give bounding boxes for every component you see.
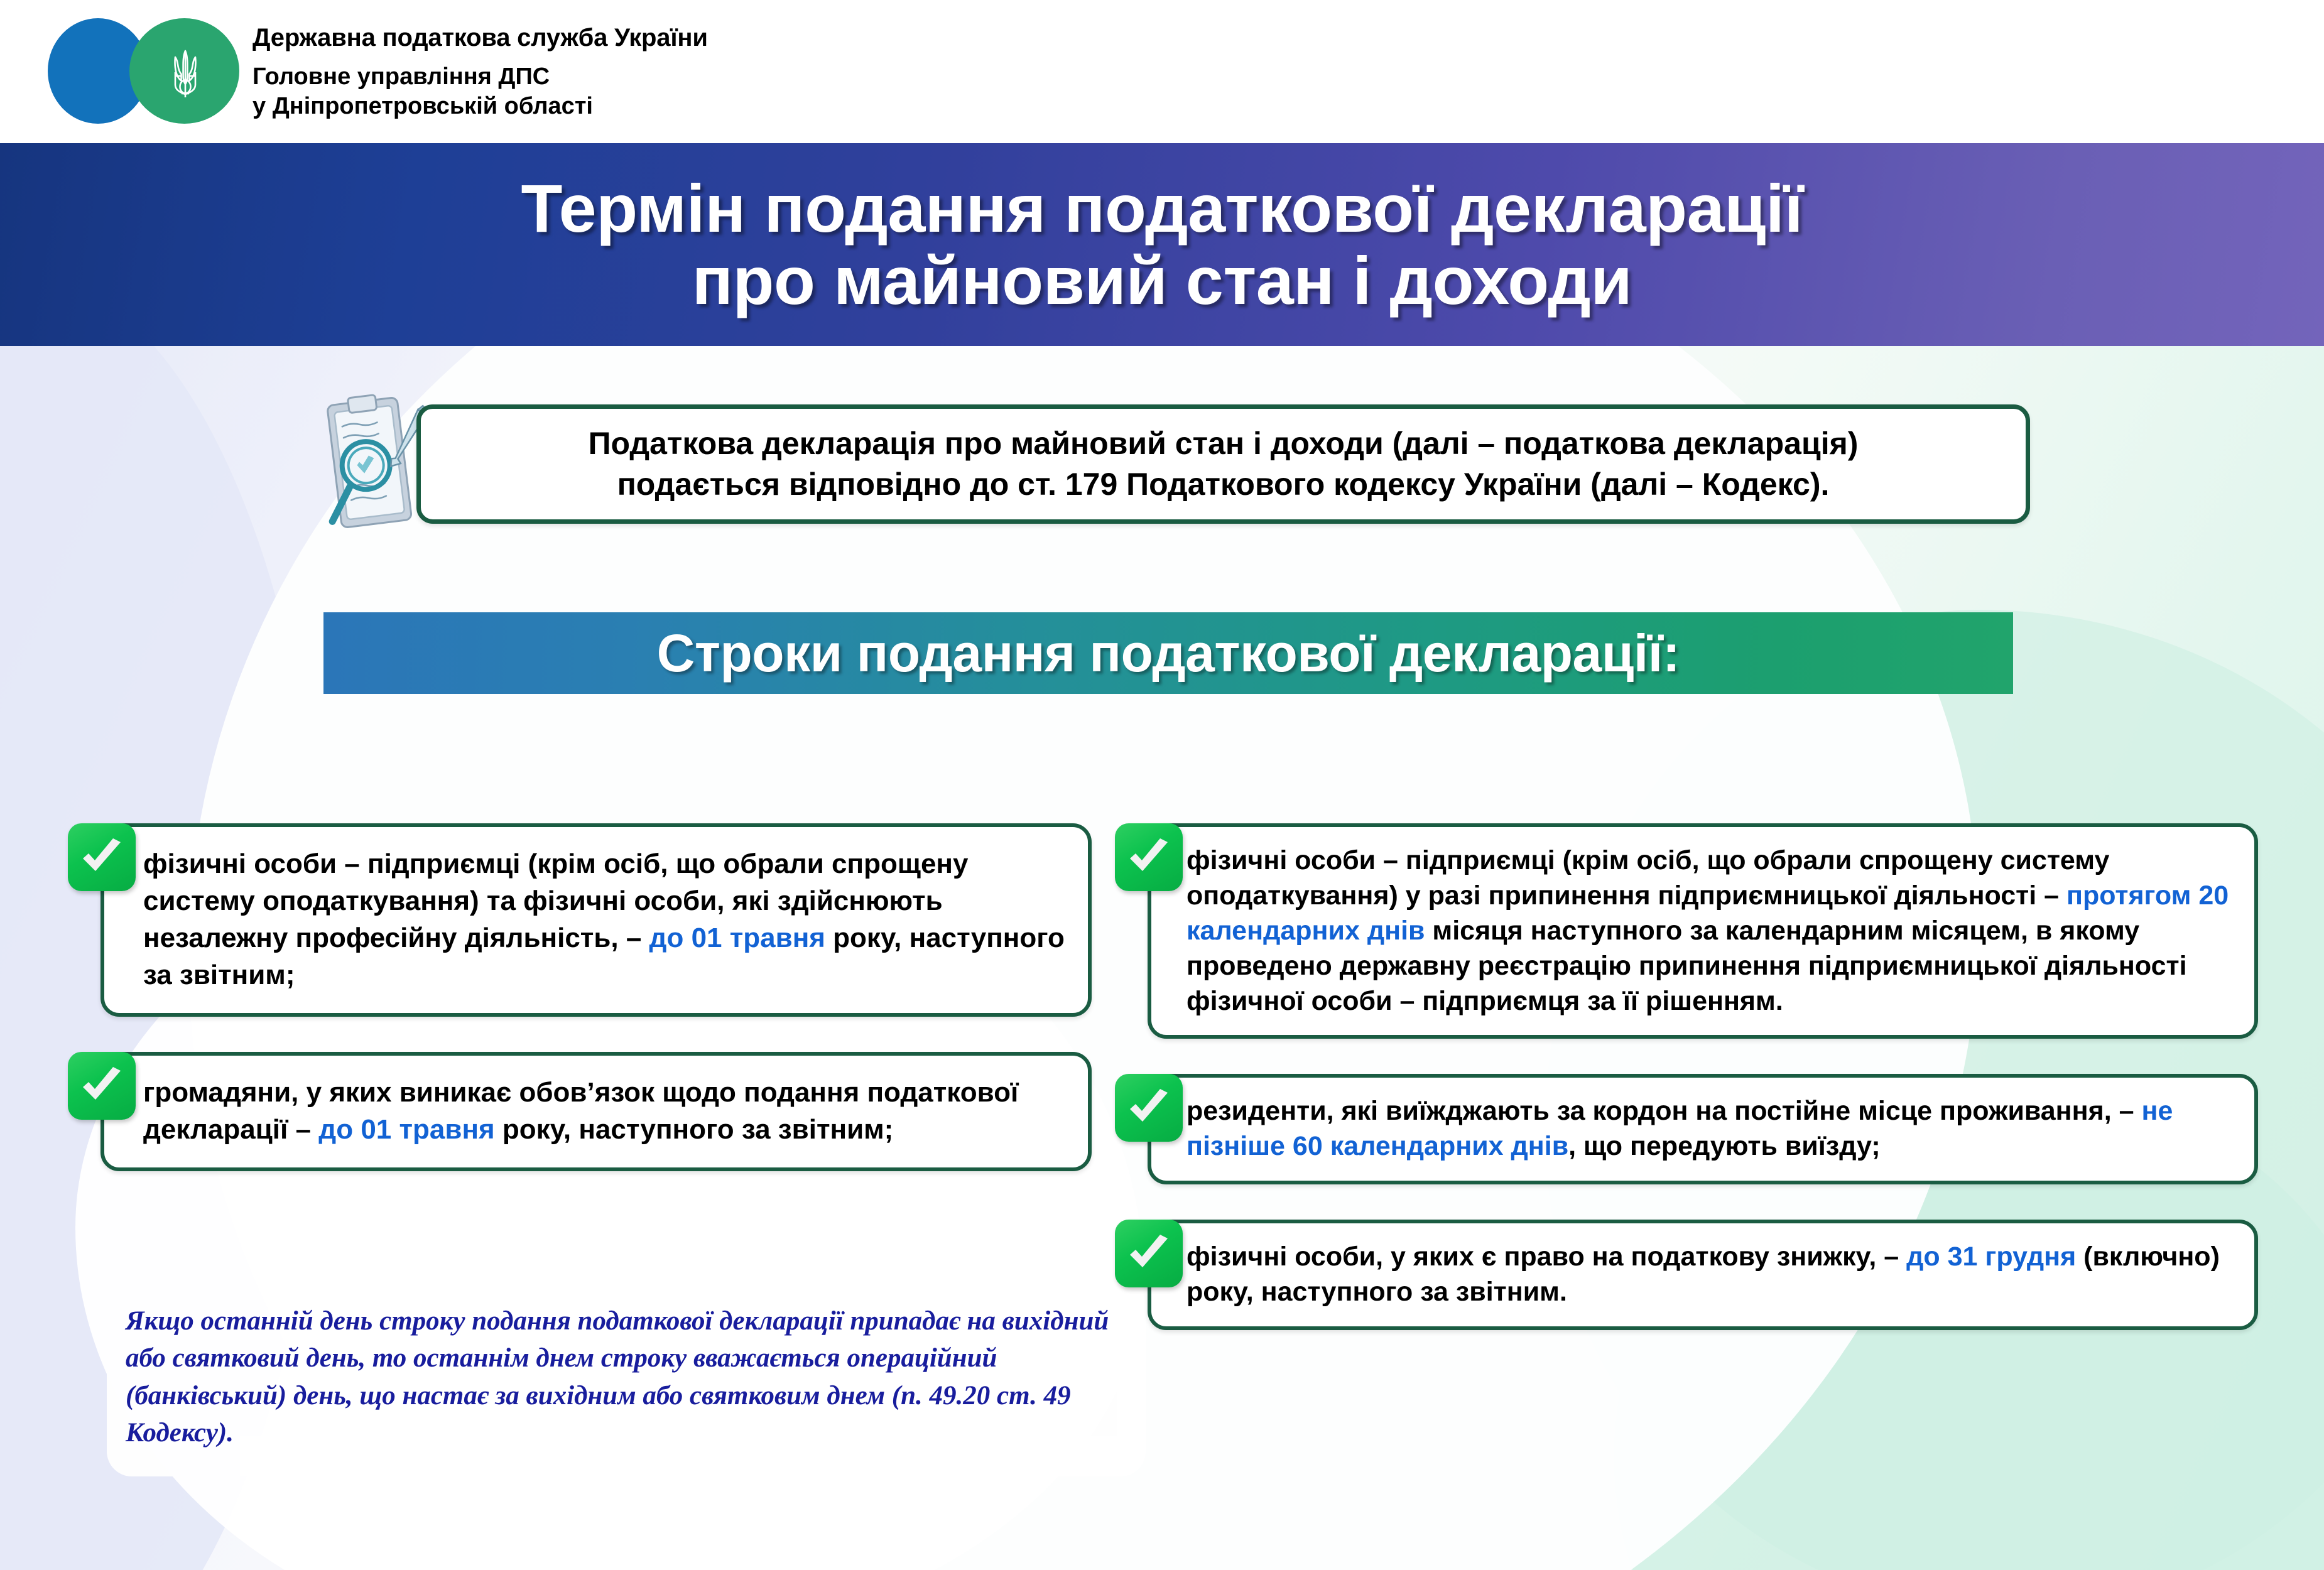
logo-bar: Державна податкова служба України Головн… bbox=[0, 0, 2324, 143]
green-check-badge-icon bbox=[68, 1052, 136, 1120]
bullet-card-text: резиденти, які виїжджають за кордон на п… bbox=[1151, 1078, 2254, 1181]
bullet-card: громадяни, у яких виникає обов’язок щодо… bbox=[68, 1052, 1092, 1171]
bullet-card: фізичні особи – підприємці (крім осіб, щ… bbox=[1115, 823, 2258, 1039]
agency-title-line2: Головне управління ДПС bbox=[252, 62, 708, 92]
agency-title-line3: у Дніпропетровській області bbox=[252, 92, 708, 122]
intro-line1: Податкова декларація про майновий стан і… bbox=[589, 426, 1859, 461]
bullet-text-post: року, наступного за звітним; bbox=[495, 1114, 894, 1145]
bullet-text-pre: фізичні особи, у яких є право на податко… bbox=[1186, 1242, 1906, 1272]
bullet-card-text: фізичні особи – підприємці (крім осіб, щ… bbox=[104, 827, 1088, 1013]
bullet-column-right: фізичні особи – підприємці (крім осіб, щ… bbox=[1115, 788, 2258, 1358]
agency-logo bbox=[36, 18, 244, 125]
agency-title-line1: Державна податкова служба України bbox=[252, 22, 708, 53]
footnote-block: Якщо останній день строку подання податк… bbox=[107, 1281, 1146, 1476]
page-title-line2: про майновий стан і доходи bbox=[692, 245, 1632, 317]
bullet-card: резиденти, які виїжджають за кордон на п… bbox=[1115, 1074, 2258, 1184]
green-check-badge-icon bbox=[1115, 1220, 1183, 1287]
page-title-banner: Термін подання податкової декларації про… bbox=[0, 143, 2324, 346]
agency-name-block: Державна податкова служба України Головн… bbox=[252, 22, 708, 122]
bullet-card: фізичні особи – підприємці (крім осіб, щ… bbox=[68, 823, 1092, 1017]
bullet-deadline-highlight: до 01 травня bbox=[649, 923, 825, 953]
green-check-badge-icon bbox=[1115, 823, 1183, 891]
intro-callout: Податкова декларація про майновий стан і… bbox=[313, 404, 2021, 524]
bullet-card-text: фізичні особи, у яких є право на податко… bbox=[1151, 1223, 2254, 1326]
bullet-card-box: фізичні особи – підприємці (крім осіб, щ… bbox=[1148, 823, 2258, 1039]
bullet-card-box: громадяни, у яких виникає обов’язок щодо… bbox=[100, 1052, 1092, 1171]
bullet-card-text: громадяни, у яких виникає обов’язок щодо… bbox=[104, 1056, 1088, 1167]
bullet-card-box: резиденти, які виїжджають за кордон на п… bbox=[1148, 1074, 2258, 1184]
green-check-badge-icon bbox=[1115, 1074, 1183, 1142]
intro-line2: подається відповідно до ст. 179 Податков… bbox=[617, 467, 1830, 502]
intro-box: Податкова декларація про майновий стан і… bbox=[416, 404, 2030, 524]
bullet-card: фізичні особи, у яких є право на податко… bbox=[1115, 1220, 2258, 1330]
bullet-deadline-highlight: до 01 травня bbox=[318, 1114, 494, 1145]
bullet-card-text: фізичні особи – підприємці (крім осіб, щ… bbox=[1151, 827, 2254, 1035]
bullet-card-box: фізичні особи – підприємці (крім осіб, щ… bbox=[100, 823, 1092, 1017]
green-check-badge-icon bbox=[68, 823, 136, 891]
page-title-line1: Термін подання податкової декларації bbox=[521, 173, 1803, 244]
ukraine-trident-icon bbox=[170, 48, 201, 100]
bullet-text-pre: фізичні особи – підприємці (крім осіб, щ… bbox=[1186, 845, 2109, 911]
bullet-text-pre: резиденти, які виїжджають за кордон на п… bbox=[1186, 1096, 2141, 1126]
footnote-text: Якщо останній день строку подання податк… bbox=[126, 1302, 1118, 1451]
bullet-column-left: фізичні особи – підприємці (крім осіб, щ… bbox=[68, 788, 1092, 1199]
bullet-card-box: фізичні особи, у яких є право на податко… bbox=[1148, 1220, 2258, 1330]
bullet-deadline-highlight: до 31 грудня bbox=[1906, 1242, 2076, 1272]
section-header: Строки подання податкової декларації: bbox=[323, 612, 2013, 694]
infographic-page: Державна податкова служба України Головн… bbox=[0, 0, 2324, 1570]
intro-text: Податкова декларація про майновий стан і… bbox=[572, 423, 1875, 505]
bullet-text-post: , що передують виїзду; bbox=[1568, 1131, 1881, 1161]
section-header-label: Строки подання податкової декларації: bbox=[657, 623, 1680, 684]
clipboard-magnifier-pen-icon bbox=[313, 391, 431, 533]
